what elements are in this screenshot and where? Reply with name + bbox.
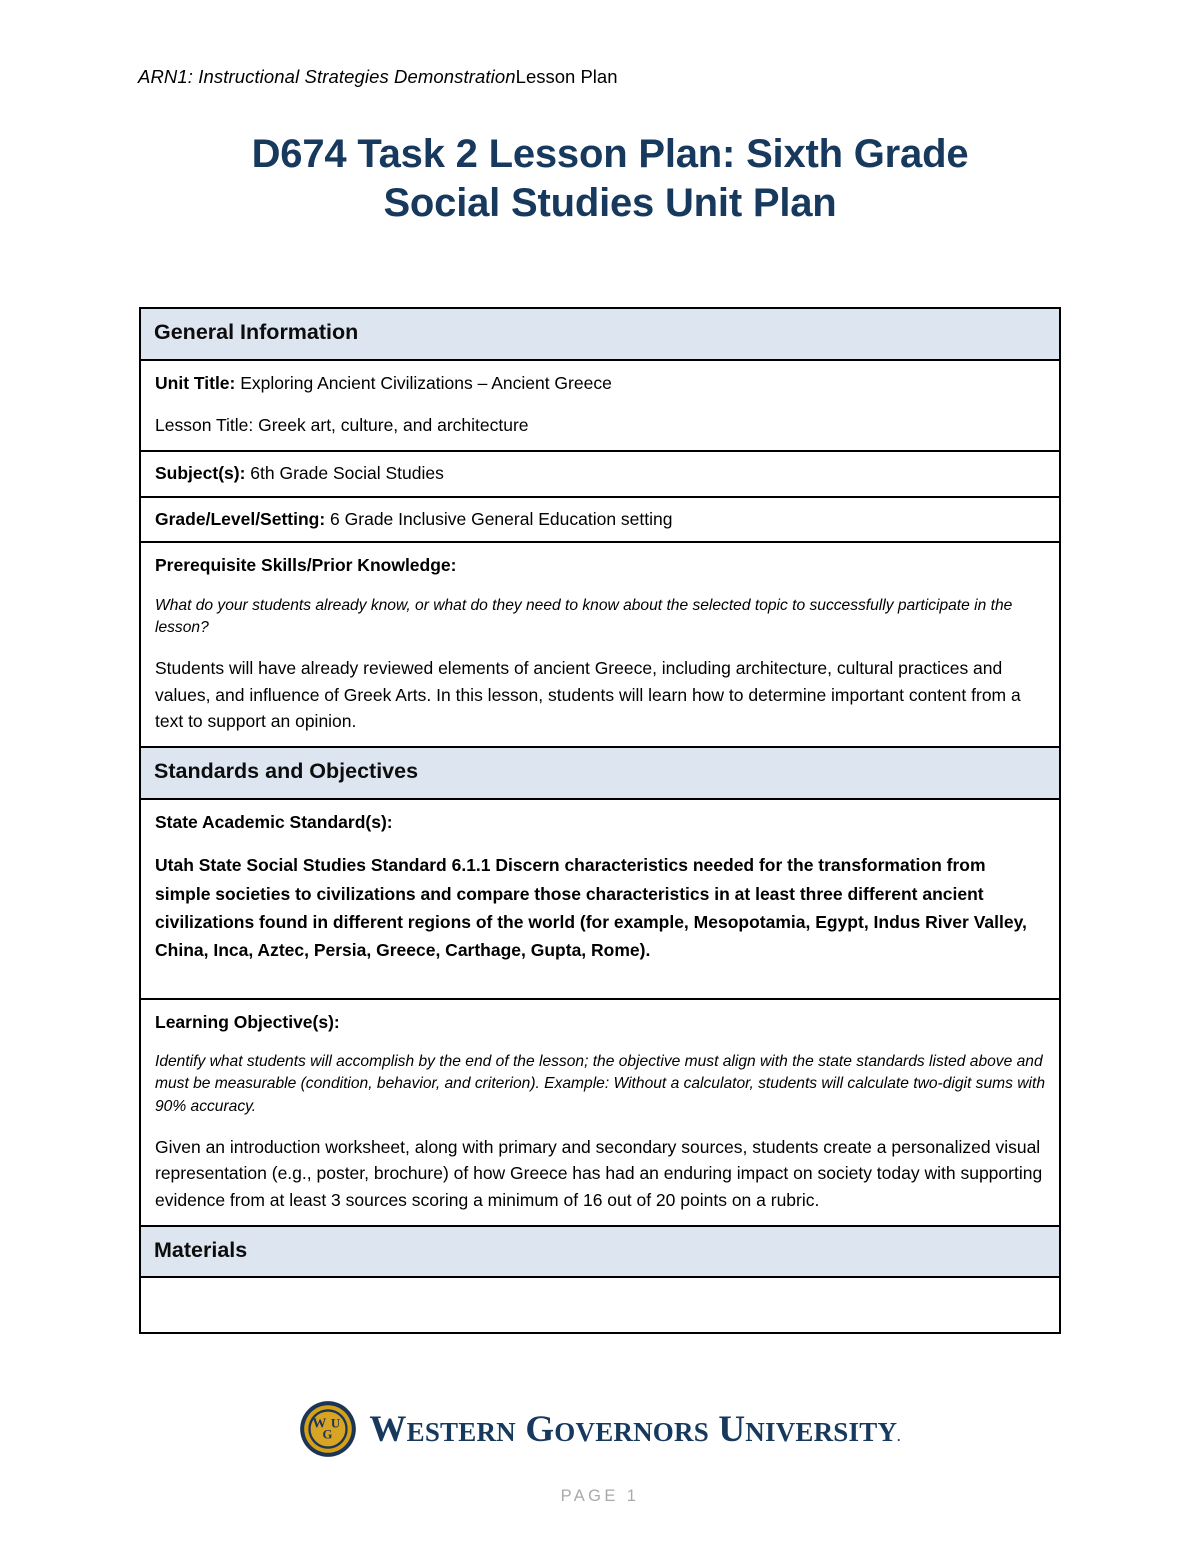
learning-objective-body: Given an introduction worksheet, along w… (155, 1134, 1045, 1214)
cell-state-academic-standard: State Academic Standard(s): Utah State S… (140, 799, 1060, 999)
unit-title-line: Unit Title: Exploring Ancient Civilizati… (155, 370, 1045, 397)
wordmark-overnors: OVERNORS (554, 1417, 709, 1447)
subject-label: Subject(s): (155, 463, 245, 483)
section-heading-general-information: General Information (140, 308, 1060, 360)
table-row-subject: Subject(s): 6th Grade Social Studies (140, 451, 1060, 497)
state-standard-body: Utah State Social Studies Standard 6.1.1… (155, 851, 1045, 964)
wordmark-estern: ESTERN (407, 1417, 516, 1447)
document-running-header: ARN1: Instructional Strategies Demonstra… (138, 66, 617, 88)
unit-title-value: Exploring Ancient Civilizations – Ancien… (235, 373, 611, 393)
wordmark-niversity: NIVERSITY (745, 1417, 897, 1447)
table-row-standards-objectives-heading: Standards and Objectives (140, 747, 1060, 799)
subject-value: 6th Grade Social Studies (245, 463, 443, 483)
cell-learning-objective: Learning Objective(s): Identify what stu… (140, 999, 1060, 1226)
page-title: D674 Task 2 Lesson Plan: Sixth Grade Soc… (190, 130, 1030, 228)
wordmark-g: G (525, 1409, 554, 1450)
learning-objective-label: Learning Objective(s): (155, 1009, 1045, 1036)
cell-materials-body (140, 1277, 1060, 1333)
subject-line: Subject(s): 6th Grade Social Studies (155, 460, 1045, 487)
table-row-prerequisite-skills: Prerequisite Skills/Prior Knowledge: Wha… (140, 542, 1060, 747)
svg-text:G: G (323, 1427, 333, 1441)
wgu-wordmark: WESTERN GOVERNORS UNIVERSITY. (369, 1411, 900, 1448)
prerequisite-label: Prerequisite Skills/Prior Knowledge: (155, 552, 1045, 579)
page-number: PAGE 1 (0, 1487, 1200, 1506)
table-row-learning-objective: Learning Objective(s): Identify what stu… (140, 999, 1060, 1226)
table-row-state-academic-standard: State Academic Standard(s): Utah State S… (140, 799, 1060, 999)
prerequisite-prompt: What do your students already know, or w… (155, 595, 1045, 639)
wgu-logo: W U G WESTERN GOVERNORS UNIVERSITY. (299, 1400, 900, 1458)
grade-value: 6 Grade Inclusive General Education sett… (325, 509, 672, 529)
learning-objective-prompt: Identify what students will accomplish b… (155, 1051, 1045, 1117)
lesson-title-line: Lesson Title: Greek art, culture, and ar… (155, 412, 1045, 439)
state-standard-label: State Academic Standard(s): (155, 809, 1045, 836)
grade-label: Grade/Level/Setting: (155, 509, 325, 529)
cell-grade-level-setting: Grade/Level/Setting: 6 Grade Inclusive G… (140, 497, 1060, 543)
wordmark-w: W (369, 1409, 406, 1450)
document-page: ARN1: Instructional Strategies Demonstra… (0, 0, 1200, 1553)
unit-title-label: Unit Title: (155, 373, 235, 393)
cell-prerequisite-skills: Prerequisite Skills/Prior Knowledge: Wha… (140, 542, 1060, 747)
lesson-plan-table: General Information Unit Title: Explorin… (139, 307, 1061, 1334)
cell-unit-and-lesson-title: Unit Title: Exploring Ancient Civilizati… (140, 360, 1060, 451)
cell-subject: Subject(s): 6th Grade Social Studies (140, 451, 1060, 497)
grade-line: Grade/Level/Setting: 6 Grade Inclusive G… (155, 506, 1045, 533)
footer-logo-block: W U G WESTERN GOVERNORS UNIVERSITY. (0, 1400, 1200, 1463)
table-row-grade-level-setting: Grade/Level/Setting: 6 Grade Inclusive G… (140, 497, 1060, 543)
prerequisite-body: Students will have already reviewed elem… (155, 655, 1045, 735)
section-heading-standards-and-objectives: Standards and Objectives (140, 747, 1060, 799)
table-row-materials-body (140, 1277, 1060, 1333)
state-standard-spacer (155, 965, 1045, 987)
running-header-plain: Lesson Plan (516, 66, 618, 87)
wordmark-u: U (718, 1409, 745, 1450)
wordmark-registered: . (897, 1429, 900, 1444)
running-header-italic: ARN1: Instructional Strategies Demonstra… (138, 66, 516, 87)
table-row-materials-heading: Materials (140, 1226, 1060, 1278)
table-row-unit-title: Unit Title: Exploring Ancient Civilizati… (140, 360, 1060, 451)
table-row-general-information-heading: General Information (140, 308, 1060, 360)
section-heading-materials: Materials (140, 1226, 1060, 1278)
wgu-seal-icon: W U G (299, 1400, 357, 1458)
